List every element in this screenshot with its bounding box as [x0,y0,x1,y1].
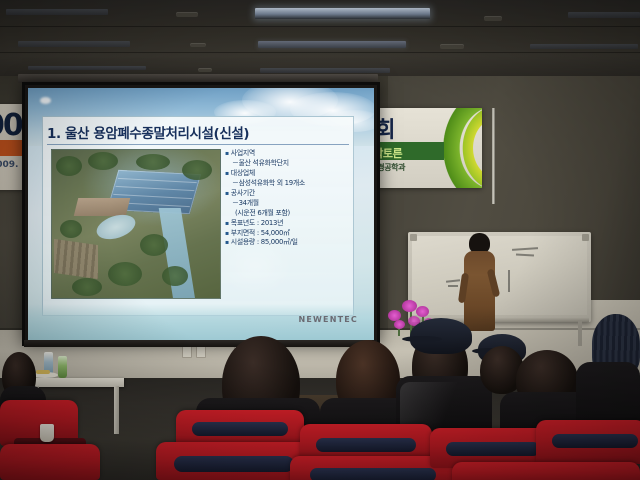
ceiling-light-fixture [28,66,146,70]
seat-trim [316,438,416,452]
seat-trim [174,456,294,472]
ceiling-vent [198,68,212,72]
bullet-dot-icon: ▪ [225,149,229,158]
seat-trim [552,434,638,448]
seat-trim [192,422,288,436]
ceiling-light-fixture [258,41,406,48]
ceiling-light-fixture [568,12,640,18]
side-table [28,378,124,387]
ceiling-vent [190,43,206,47]
slide-aerial-photo [51,149,221,299]
projector-hotspot [40,97,51,104]
slide-bullet: ▪목표년도 : 2013년 [225,219,349,229]
flower-petal [402,300,417,312]
bullet-dot-icon: ▪ [225,189,229,198]
coffee-cup [40,424,54,442]
slide-bullet: ▪부지면적 : 54,000㎡ [225,229,349,239]
seat-trim [446,442,540,456]
slide-footer-logo: NEWENTEC [298,315,358,324]
auditorium-seat[interactable] [452,462,640,480]
bullet-text: 공사기간 [231,189,255,199]
ceiling [0,0,640,78]
slide-title: 1. 울산 용암폐수종말처리시설(신설) [47,119,349,144]
ceiling-light-fixture [6,9,108,15]
seat-trim [310,468,436,480]
projection-screen-surface: 1. 울산 용암폐수종말처리시설(신설) [28,88,374,340]
presenter-body [464,251,495,331]
ceiling-light-fixture [260,68,390,73]
slide-bullet: －삼성석유화학 외 19개소 [225,179,349,189]
flower-petal [394,320,405,329]
slide-bullet: ▪대상업체 [225,169,349,179]
bullet-dot-icon: ▪ [225,169,229,178]
slide-bullet: (시운전 6개월 포함) [225,209,349,219]
ceiling-vent [484,16,502,21]
lecture-hall-scene: 00 업 2009. 수회 공전락토른 학교 환경공학과 1. 울산 용암폐수종… [0,0,640,480]
slide-bullet: ▪사업지역 [225,149,349,159]
ceiling-vent [176,12,198,17]
whiteboard-leg [578,320,582,346]
screen-glare [218,238,292,296]
green-bottle [58,356,67,378]
screen-bottom-bar [24,340,372,347]
bullet-text: 부지면적 : 54,000㎡ [231,229,290,239]
presenter [462,233,496,329]
perimeter-structure [54,239,98,279]
cap-brim [402,336,442,342]
table-leg [114,386,119,434]
ceiling-vent [440,44,464,49]
vertical-pole [492,108,495,204]
ceiling-light-fixture [530,44,638,49]
bullet-text: 대상업체 [231,169,255,179]
bullet-dot-icon: ▪ [225,219,229,228]
auditorium-seat[interactable] [0,444,100,480]
flower-petal [416,306,429,317]
snack-item [36,370,50,374]
slide-bullet: －34개월 [225,199,349,209]
slide-content-card: 1. 울산 용암폐수종말처리시설(신설) [42,116,354,316]
banner-left-number: 00 [0,108,22,143]
ceiling-light-fixture [255,8,430,19]
slide-bullet: －울산 석유화학단지 [225,159,349,169]
slide-bullet: ▪공사기간 [225,189,349,199]
ceiling-light-fixture [18,41,130,47]
bullet-text: 사업지역 [231,149,255,159]
projection-screen: 1. 울산 용암폐수종말처리시설(신설) [22,82,380,346]
plant-building [74,198,130,216]
slide-title-rule [47,144,349,145]
bullet-text: 목표년도 : 2013년 [231,219,283,229]
bullet-dot-icon: ▪ [225,229,229,238]
banner-left-year: 2009. [0,160,18,170]
